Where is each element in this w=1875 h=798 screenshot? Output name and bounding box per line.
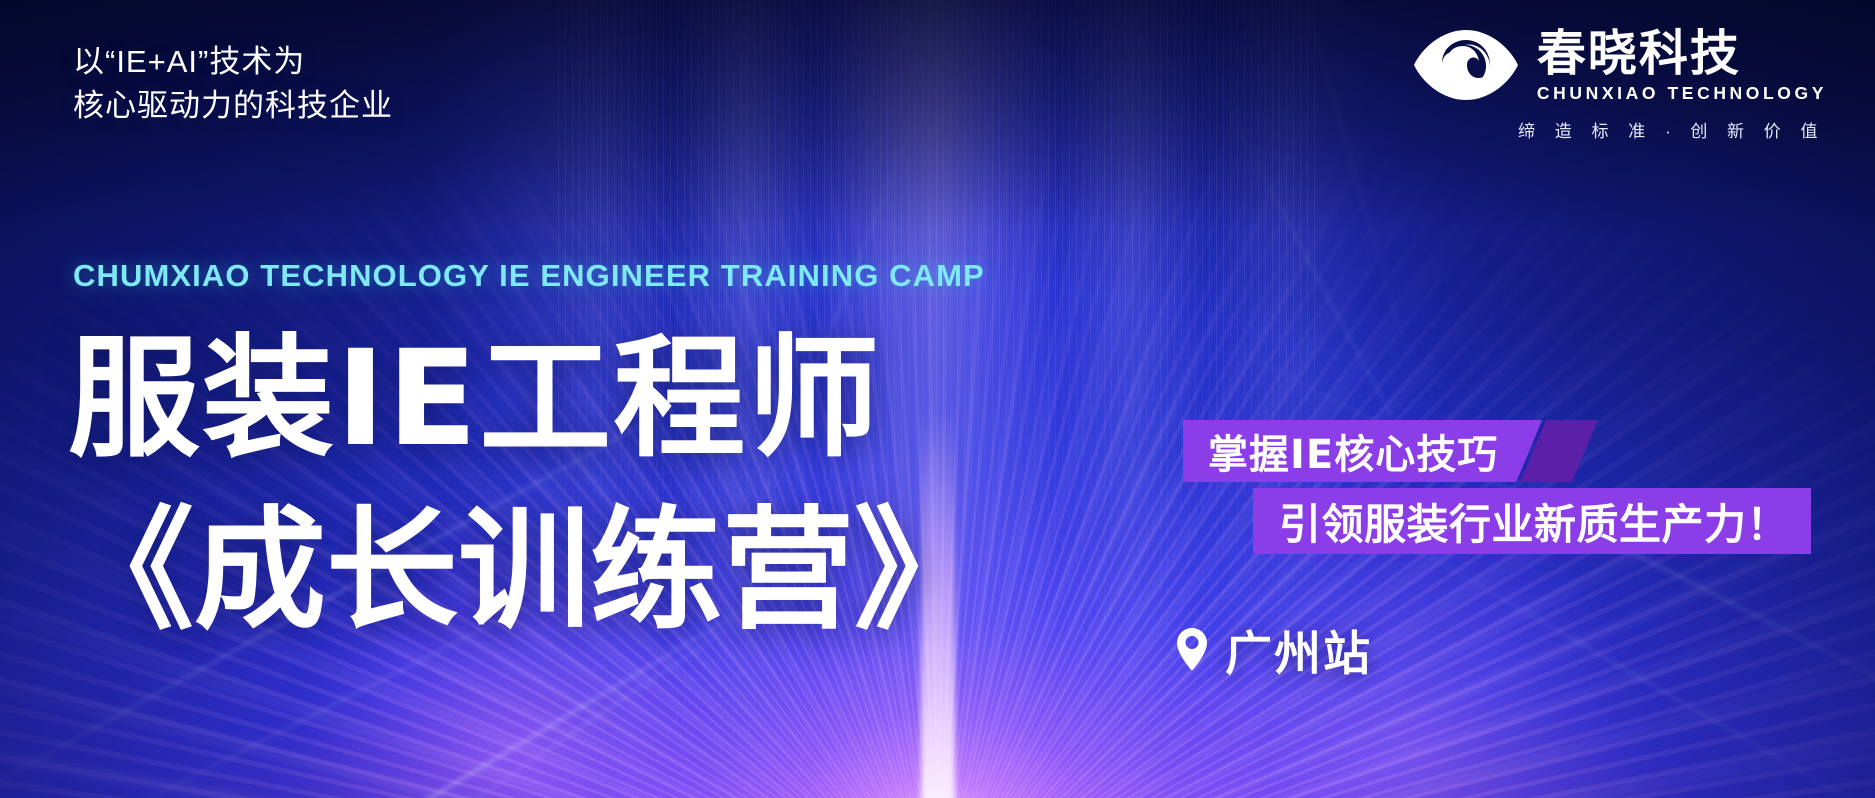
location-pin-icon — [1175, 628, 1209, 672]
event-location: 广州站 — [1175, 615, 1372, 684]
highlight-tag-secondary: 引领服装行业新质生产力！ — [1253, 488, 1811, 554]
location-label: 广州站 — [1225, 615, 1372, 684]
event-banner: 以“IE+AI”技术为 核心驱动力的科技企业 春晓科技 CHUNXIAO TEC… — [0, 0, 1875, 798]
highlight-tags: 掌握IE核心技巧 引领服装行业新质生产力！ — [0, 0, 1875, 798]
highlight-tag-primary: 掌握IE核心技巧 — [1183, 420, 1542, 482]
banner-content: 以“IE+AI”技术为 核心驱动力的科技企业 春晓科技 CHUNXIAO TEC… — [0, 0, 1875, 798]
